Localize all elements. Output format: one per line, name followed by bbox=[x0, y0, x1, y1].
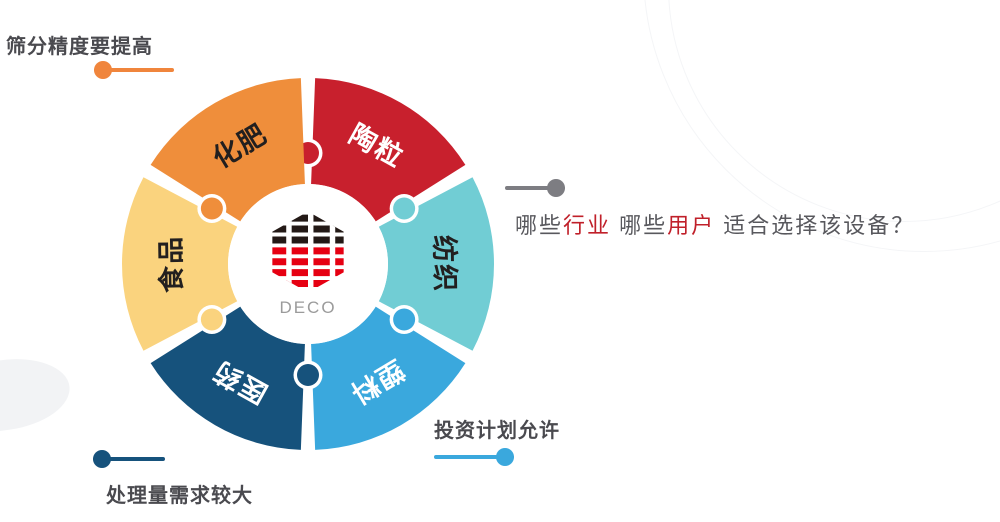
infographic-canvas: 筛分精度要提高 哪些行业 哪些用户 适合选择该设备？ 投资计划允许 处理量需求较… bbox=[0, 0, 1000, 522]
slider-throughput[interactable] bbox=[93, 450, 165, 468]
audience-highlight-industry: 行业 bbox=[563, 213, 611, 238]
slider-investment-knob[interactable] bbox=[496, 448, 514, 466]
callout-audience-label: 哪些行业 哪些用户 适合选择该设备？ bbox=[515, 208, 915, 240]
audience-text-1: 哪些 bbox=[515, 213, 563, 238]
decorative-wedge-bottom-left-icon bbox=[0, 351, 74, 438]
audience-text-2: 哪些 bbox=[611, 213, 667, 238]
audience-highlight-user: 用户 bbox=[667, 213, 715, 238]
audience-text-3: 适合选择该设备？ bbox=[715, 213, 915, 238]
logo-break-1 bbox=[308, 210, 313, 294]
puzzle-tab-3 bbox=[297, 364, 319, 386]
brand-hub: DECO bbox=[228, 184, 388, 344]
slider-throughput-knob[interactable] bbox=[93, 450, 111, 468]
brand-name: DECO bbox=[279, 298, 336, 318]
puzzle-tab-5 bbox=[201, 198, 223, 220]
puzzle-tab-4 bbox=[201, 309, 223, 331]
industry-donut-wheel: 陶粒纺织塑料医药食品化肥 DECO bbox=[122, 78, 494, 450]
callout-precision-label: 筛分精度要提高 bbox=[6, 30, 153, 59]
logo-break-2 bbox=[330, 210, 335, 294]
callout-throughput-label: 处理量需求较大 bbox=[106, 479, 253, 508]
logo-stripe-6 bbox=[269, 280, 342, 287]
decorative-arc-top-right-icon bbox=[668, 0, 1000, 222]
deco-hexagon-logo-icon bbox=[269, 210, 347, 294]
slider-audience-knob[interactable] bbox=[547, 179, 565, 197]
slider-precision-knob[interactable] bbox=[94, 61, 112, 79]
puzzle-tab-2 bbox=[393, 309, 415, 331]
slider-audience[interactable] bbox=[505, 179, 565, 197]
slider-investment[interactable] bbox=[434, 448, 514, 466]
logo-break-0 bbox=[286, 210, 291, 294]
slider-precision[interactable] bbox=[94, 61, 174, 79]
puzzle-tab-1 bbox=[393, 198, 415, 220]
